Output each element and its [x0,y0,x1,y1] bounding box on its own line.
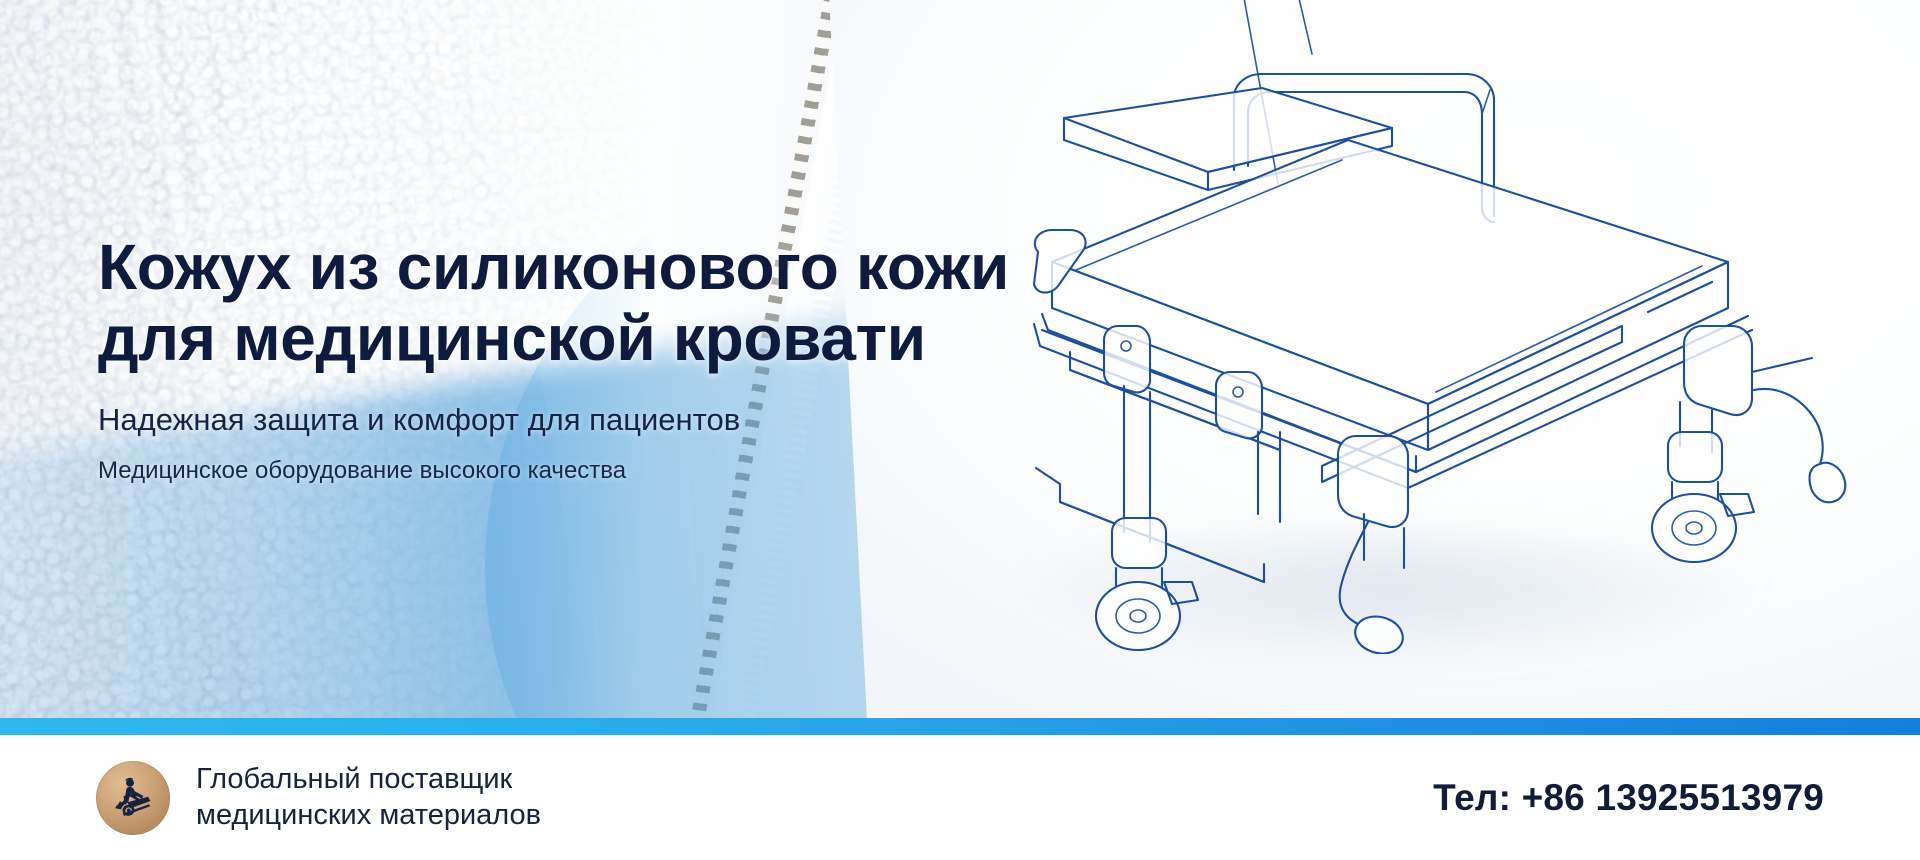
footer-bar: Глобальный поставщик медицинских материа… [0,735,1920,860]
brand-block: Глобальный поставщик медицинских материа… [96,761,541,835]
hero-tagline: Медицинское оборудование высокого качест… [98,456,1218,486]
hero-subtitle: Надежная защита и комфорт для пациентов [98,401,1218,440]
worker-unrolling-material-icon [96,761,170,835]
contact-phone[interactable]: Тел: +86 13925513979 [1433,779,1824,816]
hero-section: Кожух из силиконового кожи для медицинск… [0,0,1920,718]
brand-tagline: Глобальный поставщик медицинских материа… [196,762,541,832]
blue-divider-bar [0,718,1920,735]
page-title: Кожух из силиконового кожи для медицинск… [98,232,1218,375]
paper-drop-shadow [950,498,1830,678]
promo-banner: Кожух из силиконового кожи для медицинск… [0,0,1920,860]
hero-copy: Кожух из силиконового кожи для медицинск… [98,232,1218,486]
